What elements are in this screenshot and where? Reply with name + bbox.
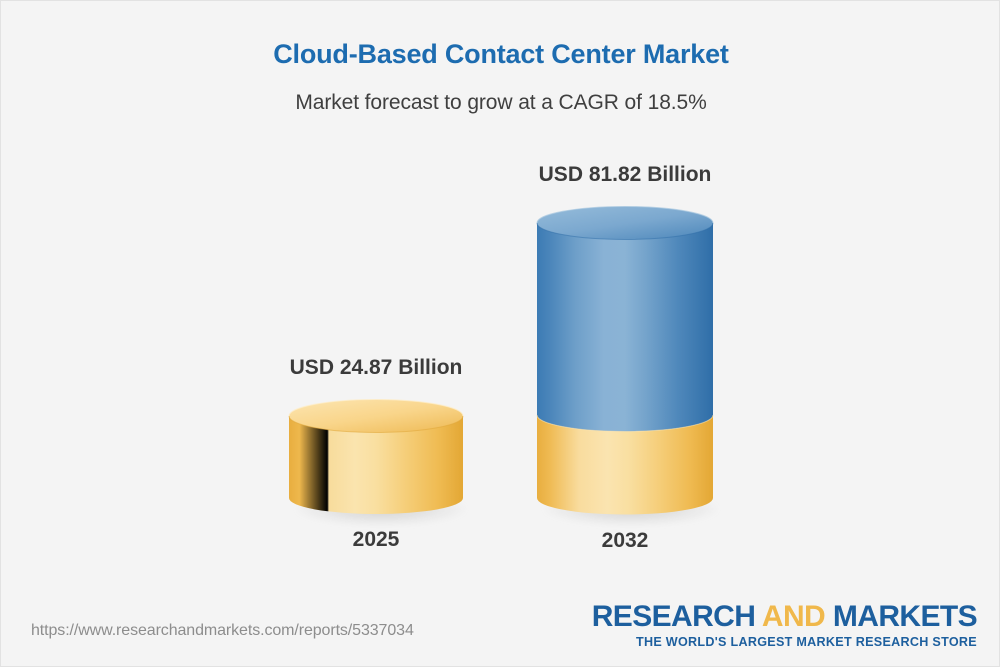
- brand-research: RESEARCH: [592, 600, 762, 633]
- source-url[interactable]: https://www.researchandmarkets.com/repor…: [31, 622, 414, 640]
- plot-area: USD 24.87 Billion: [1, 1, 1000, 601]
- category-label-2032: 2032: [519, 529, 731, 553]
- bar-group-2032[interactable]: USD 81.82 Billion: [519, 163, 731, 558]
- chart-canvas: Cloud-Based Contact Center Market Market…: [0, 0, 1000, 667]
- cylinder-2032: [519, 163, 731, 558]
- brand-markets: MARKETS: [825, 600, 977, 633]
- cylinder-2025: [271, 356, 481, 556]
- brand-logo[interactable]: RESEARCH AND MARKETS THE WORLD'S LARGEST…: [592, 601, 977, 649]
- bar-group-2025[interactable]: USD 24.87 Billion: [271, 356, 481, 556]
- brand-tagline: THE WORLD'S LARGEST MARKET RESEARCH STOR…: [592, 635, 977, 649]
- brand-and: AND: [762, 600, 825, 633]
- brand-wordmark: RESEARCH AND MARKETS: [592, 601, 977, 633]
- category-label-2025: 2025: [271, 528, 481, 552]
